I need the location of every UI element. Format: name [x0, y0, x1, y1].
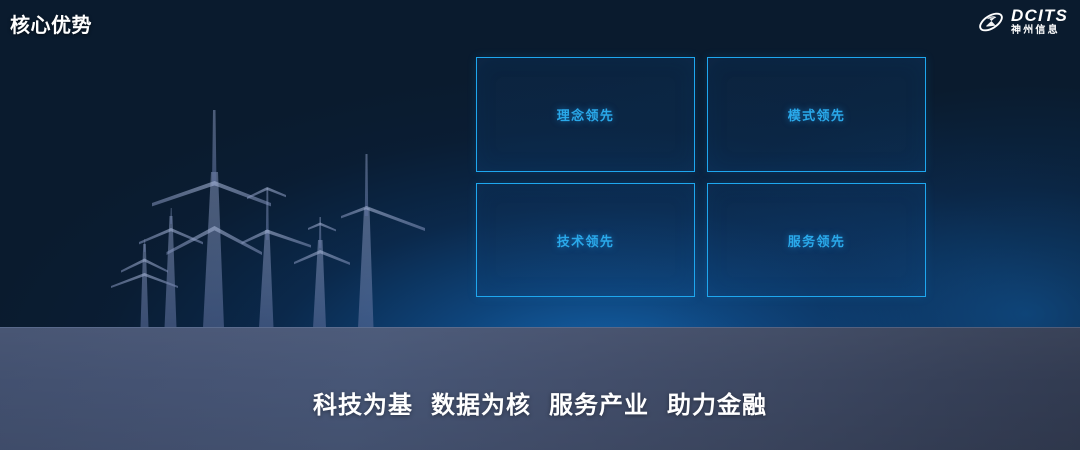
tagline-part-4: 助力金融: [667, 392, 767, 419]
advantage-card-grid: 理念领先 模式领先 技术领先 服务领先: [476, 57, 926, 297]
advantage-card-3[interactable]: 技术领先: [476, 183, 695, 297]
tower-2: [139, 208, 203, 328]
advantage-card-2-label: 模式领先: [788, 105, 846, 124]
logo-brand-cn: 神州信息: [1011, 26, 1068, 36]
footer-band-edge: [0, 327, 1080, 328]
slide-root: 核心优势 DCITS 神州信息 理念领先 模式领先 技术领先 服务领先: [0, 0, 1080, 450]
tagline-part-3: 服务产业: [549, 392, 649, 419]
footer-tagline: 科技为基数据为核服务产业助力金融: [0, 385, 1080, 420]
advantage-card-3-label: 技术领先: [557, 231, 615, 250]
tower-6: [341, 154, 425, 328]
advantage-card-1-label: 理念领先: [557, 105, 615, 124]
dcits-swoosh-icon: [977, 9, 1005, 35]
advantage-card-1[interactable]: 理念领先: [476, 57, 695, 172]
logo-brand-en: DCITS: [1011, 7, 1068, 24]
page-title: 核心优势: [10, 9, 92, 38]
tower-5: [294, 217, 350, 328]
tagline-part-1: 科技为基: [313, 392, 413, 419]
tower-4: [242, 187, 312, 328]
logo-text-block: DCITS 神州信息: [1011, 7, 1068, 36]
advantage-card-2[interactable]: 模式领先: [707, 57, 926, 172]
advantage-card-4[interactable]: 服务领先: [707, 183, 926, 297]
brand-logo: DCITS 神州信息: [977, 7, 1068, 36]
advantage-card-4-label: 服务领先: [788, 231, 846, 250]
tagline-part-2: 数据为核: [431, 392, 531, 419]
